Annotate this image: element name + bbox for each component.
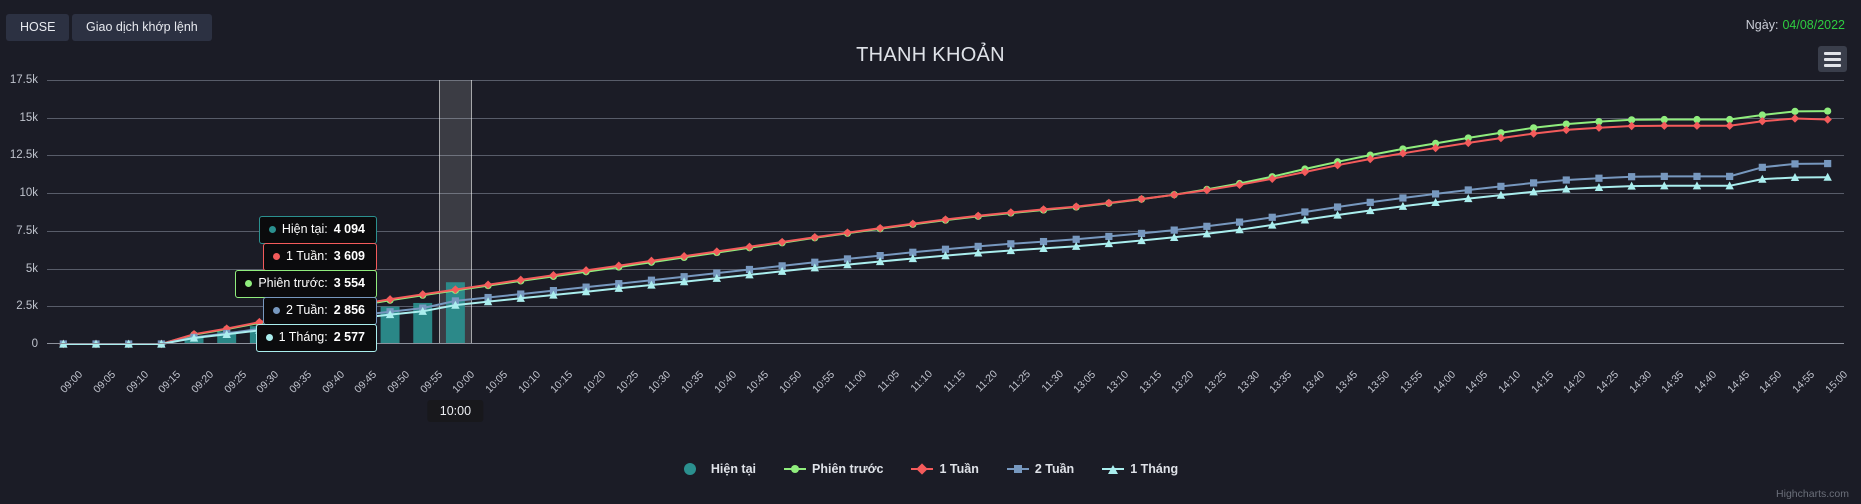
y-axis-tick-label: 0 xyxy=(32,338,38,350)
x-axis-tick-label: 11:00 xyxy=(843,368,870,395)
tooltip-row: 1 Tuần:3 609 xyxy=(263,243,377,271)
tooltip-series-dot xyxy=(273,253,280,260)
legend-item-phiên-trước[interactable]: Phiên trước xyxy=(784,462,883,476)
legend-symbol-bigdot-icon xyxy=(683,463,705,475)
legend-item-hiện-tại[interactable]: Hiện tại xyxy=(683,462,756,476)
legend-marker xyxy=(684,463,696,475)
tooltip-series-label: 1 Tuần: xyxy=(286,248,328,265)
legend-symbol-triangle-icon xyxy=(1102,463,1124,475)
x-axis-tick-label: 09:35 xyxy=(287,369,314,396)
x-axis-tick-label: 14:05 xyxy=(1463,369,1490,396)
x-axis-tick-label: 10:50 xyxy=(777,369,804,396)
tooltip-series-dot xyxy=(269,226,276,233)
chart-page: HOSE Giao dịch khớp lệnh Ngày:04/08/2022… xyxy=(0,0,1861,504)
x-axis-tick-label: 14:10 xyxy=(1496,369,1523,396)
x-axis-tick-label: 09:30 xyxy=(254,369,281,396)
x-axis-tick-label: 14:50 xyxy=(1757,369,1784,396)
x-axis-tick-label: 09:25 xyxy=(222,369,249,396)
x-axis-tick-label: 09:00 xyxy=(58,369,85,396)
x-axis-tick-label: 15:00 xyxy=(1823,369,1850,396)
x-axis-tick-label: 09:40 xyxy=(320,369,347,396)
legend-marker xyxy=(791,465,799,473)
tooltip-series-value: 3 609 xyxy=(334,248,365,265)
x-axis-tick-label: 10:45 xyxy=(745,369,772,396)
legend-label: 2 Tuần xyxy=(1035,462,1074,476)
x-axis-tick-label: 11:20 xyxy=(974,368,1001,395)
tooltip-series-label: 1 Tháng: xyxy=(279,329,328,346)
legend-symbol-circle-icon xyxy=(784,463,806,475)
tooltip-row: 1 Tháng:2 577 xyxy=(256,324,377,352)
x-axis-tick-label: 14:40 xyxy=(1692,369,1719,396)
x-axis-tick-label: 13:50 xyxy=(1365,369,1392,396)
x-axis-tick-label: 11:30 xyxy=(1039,368,1066,395)
legend-label: 1 Tháng xyxy=(1130,462,1178,476)
y-axis-tick-label: 15k xyxy=(19,112,38,124)
exchange-filter-button[interactable]: HOSE xyxy=(6,14,69,41)
x-axis-labels: 09:0009:0509:1009:1509:2009:2509:3009:35… xyxy=(47,346,1844,406)
tooltip-series-value: 2 856 xyxy=(334,302,365,319)
x-axis-tick-label: 10:00 xyxy=(451,369,478,396)
x-axis-tick-label: 14:00 xyxy=(1431,369,1458,396)
x-axis-tick-label: 14:20 xyxy=(1561,369,1588,396)
x-axis-tick-label: 13:15 xyxy=(1137,369,1164,396)
x-axis-tick-label: 13:25 xyxy=(1202,369,1229,396)
legend-marker xyxy=(1014,465,1022,473)
tooltip-series-label: 2 Tuần: xyxy=(286,302,328,319)
legend-label: Hiện tại xyxy=(711,462,756,476)
y-axis-tick-label: 7.5k xyxy=(16,225,38,237)
x-axis-tick-label: 10:35 xyxy=(679,369,706,396)
date-value: 04/08/2022 xyxy=(1782,18,1845,32)
legend-label: 1 Tuần xyxy=(939,462,978,476)
x-axis-tick-label: 14:55 xyxy=(1790,369,1817,396)
x-axis-tick-label: 09:05 xyxy=(91,369,118,396)
x-axis-tick-label: 10:55 xyxy=(810,369,837,396)
tooltip-series-dot xyxy=(273,307,280,314)
legend-item-1-tháng[interactable]: 1 Tháng xyxy=(1102,462,1178,476)
x-axis-tick-label: 11:15 xyxy=(941,368,968,395)
x-axis-tick-label: 13:40 xyxy=(1300,369,1327,396)
x-axis-tick-label: 11:25 xyxy=(1006,368,1033,395)
x-axis-tick-label: 09:50 xyxy=(385,369,412,396)
x-axis-tick-label: 10:20 xyxy=(581,369,608,396)
legend-marker xyxy=(917,463,928,474)
x-axis-tick-label: 09:10 xyxy=(124,369,151,396)
x-axis-tick-label: 09:15 xyxy=(156,369,183,396)
tooltip-axis-label: 10:00 xyxy=(428,400,483,422)
x-axis-tick-label: 14:45 xyxy=(1725,369,1752,396)
x-axis-tick-label: 13:45 xyxy=(1333,369,1360,396)
x-axis-tick-label: 11:05 xyxy=(876,368,903,395)
x-axis-tick-label: 14:35 xyxy=(1659,369,1686,396)
highcharts-credit: Highcharts.com xyxy=(1776,488,1849,500)
x-axis-tick-label: 13:05 xyxy=(1071,369,1098,396)
tooltip-series-label: Hiện tại: xyxy=(282,221,328,238)
chart-title: THANH KHOẢN xyxy=(0,44,1861,67)
date-label: Ngày: xyxy=(1746,18,1779,32)
x-axis-tick-label: 09:20 xyxy=(189,369,216,396)
y-axis-tick-label: 5k xyxy=(26,263,38,275)
tooltip-series-label: Phiên trước: xyxy=(258,275,327,292)
tooltip-series-value: 4 094 xyxy=(334,221,365,238)
date-display: Ngày:04/08/2022 xyxy=(1746,18,1845,32)
tooltip-row: Phiên trước:3 554 xyxy=(235,270,377,298)
x-axis-tick-label: 13:30 xyxy=(1235,369,1262,396)
x-axis-tick-label: 14:30 xyxy=(1627,369,1654,396)
x-axis-tick-label: 10:10 xyxy=(516,369,543,396)
x-axis-tick-label: 10:30 xyxy=(647,369,674,396)
legend-item-2-tuần[interactable]: 2 Tuần xyxy=(1007,462,1074,476)
legend-symbol-square-icon xyxy=(1007,463,1029,475)
x-axis-tick-label: 13:35 xyxy=(1267,369,1294,396)
tooltip-row: 2 Tuần:2 856 xyxy=(263,297,377,325)
x-axis-tick-label: 10:15 xyxy=(549,369,576,396)
x-axis-tick-label: 09:55 xyxy=(418,369,445,396)
tooltip-series-value: 2 577 xyxy=(334,329,365,346)
x-axis-tick-label: 09:45 xyxy=(353,369,380,396)
legend-item-1-tuần[interactable]: 1 Tuần xyxy=(911,462,978,476)
y-axis-tick-label: 17.5k xyxy=(10,74,38,86)
x-axis-tick-label: 13:10 xyxy=(1104,369,1131,396)
legend-marker xyxy=(1108,465,1118,474)
y-axis-tick-label: 10k xyxy=(19,187,38,199)
x-axis-tick-label: 10:40 xyxy=(712,369,739,396)
x-axis-tick-label: 10:05 xyxy=(483,369,510,396)
x-axis-tick-label: 14:25 xyxy=(1594,369,1621,396)
tooltip-series-value: 3 554 xyxy=(334,275,365,292)
tooltip-series-dot xyxy=(245,280,252,287)
x-axis-tick-label: 13:20 xyxy=(1169,369,1196,396)
tooltip-row: Hiện tại:4 094 xyxy=(259,216,377,244)
legend-symbol-diamond-icon xyxy=(911,463,933,475)
tooltip-series-dot xyxy=(266,334,273,341)
x-axis-tick-label: 11:10 xyxy=(908,368,935,395)
chart-legend: Hiện tạiPhiên trước1 Tuần2 Tuần1 Tháng xyxy=(0,462,1861,476)
x-axis-tick-label: 13:55 xyxy=(1398,369,1425,396)
y-axis-tick-label: 12.5k xyxy=(10,149,38,161)
x-axis-tick-label: 14:15 xyxy=(1529,369,1556,396)
x-axis-tick-label: 10:25 xyxy=(614,369,641,396)
y-axis-tick-label: 2.5k xyxy=(16,300,38,312)
trade-mode-button[interactable]: Giao dịch khớp lệnh xyxy=(72,14,212,41)
legend-label: Phiên trước xyxy=(812,462,883,476)
